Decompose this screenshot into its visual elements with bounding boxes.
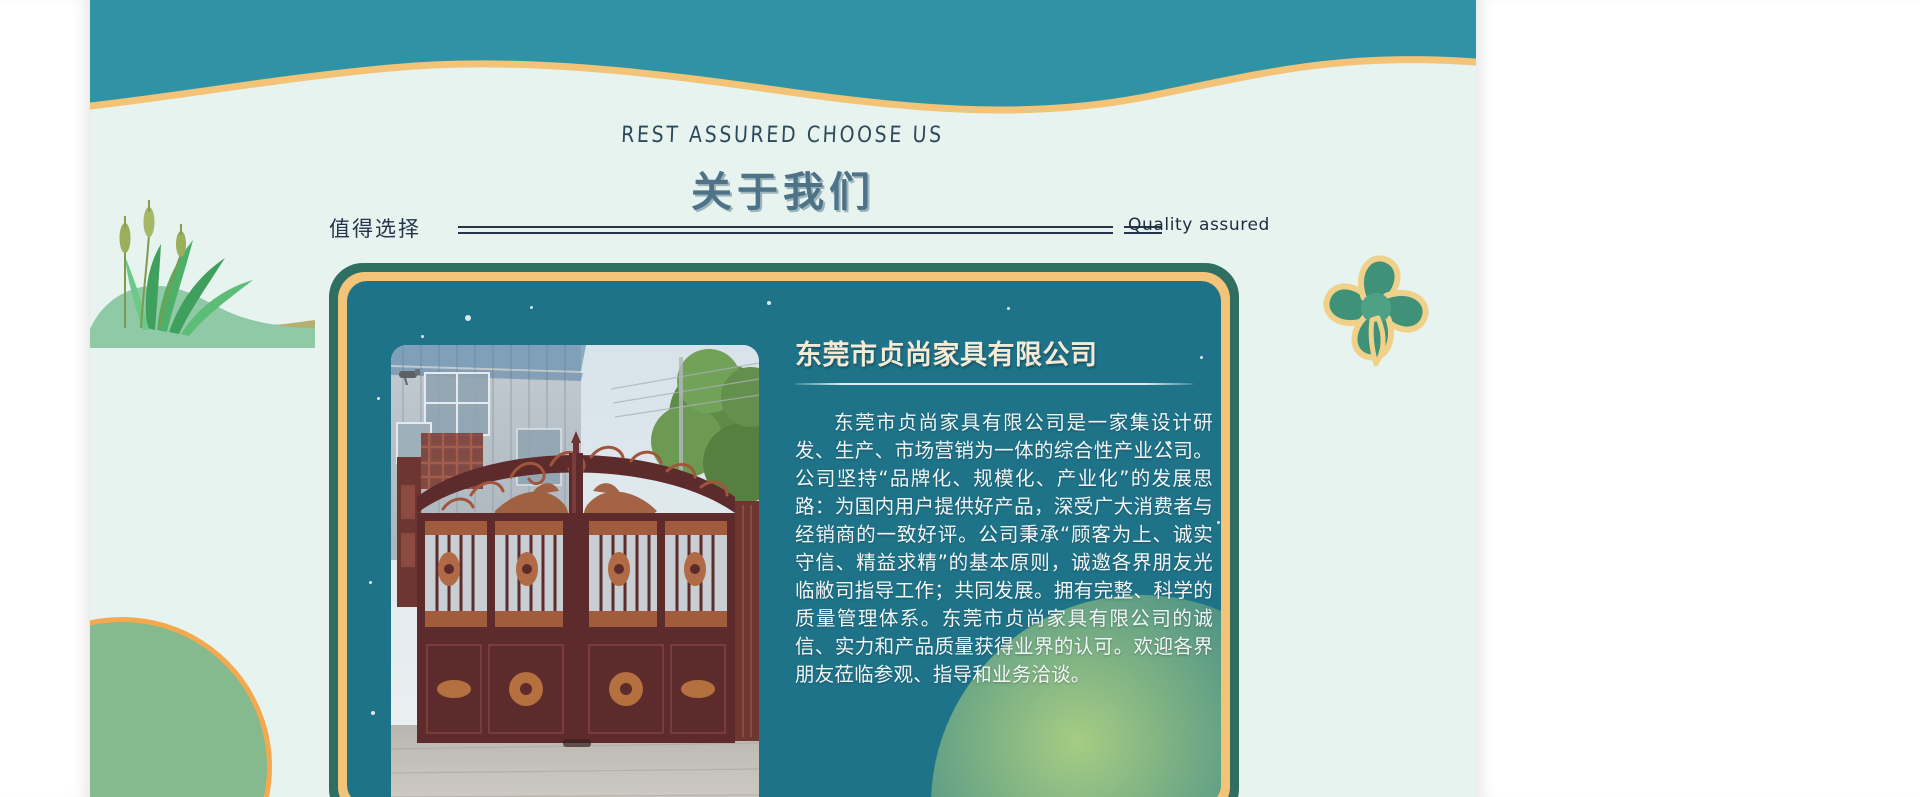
section-heading: REST ASSURED CHOOSE US 关于我们 [90,122,1476,218]
company-description: 东莞市贞尚家具有限公司是一家集设计研发、生产、市场营销为一体的综合性产业公司。公… [795,409,1213,689]
company-name-underline [795,383,1193,385]
factory-gate-photo [391,345,759,797]
divider-rule-long [458,226,1113,235]
subtitle-cn: 值得选择 [329,213,421,243]
clover-decoration [1318,252,1438,382]
ornate-gate [417,431,735,747]
page-gutter-left [0,0,90,797]
company-name: 东莞市贞尚家具有限公司 [795,333,1213,372]
card-inner-panel: 东莞市贞尚家具有限公司 东莞市贞尚家具有限公司是一家集设计研发、生产、市场营销为… [347,281,1221,797]
screenshot-root: REST ASSURED CHOOSE US 关于我们 值得选择 Quality… [0,0,1920,797]
subtitle-row: 值得选择 Quality assured [90,210,1476,250]
about-text-column: 东莞市贞尚家具有限公司 东莞市贞尚家具有限公司是一家集设计研发、生产、市场营销为… [795,333,1213,689]
page-title: 关于我们 [90,158,1476,218]
subtitle-en: Quality assured [1128,215,1270,235]
wave-icon [90,0,1476,130]
section-eyebrow-en: REST ASSURED CHOOSE US [90,122,1476,148]
top-wave-banner [90,0,1476,130]
circle-decoration [90,617,272,797]
about-card: 东莞市贞尚家具有限公司 东莞市贞尚家具有限公司是一家集设计研发、生产、市场营销为… [329,263,1239,797]
four-leaf-clover-icon [1318,252,1438,382]
factory-gate-image [391,345,759,797]
page-gutter-right [1476,0,1920,797]
card-gold-frame: 东莞市贞尚家具有限公司 东莞市贞尚家具有限公司是一家集设计研发、生产、市场营销为… [338,272,1230,797]
page-canvas: REST ASSURED CHOOSE US 关于我们 值得选择 Quality… [90,0,1476,797]
